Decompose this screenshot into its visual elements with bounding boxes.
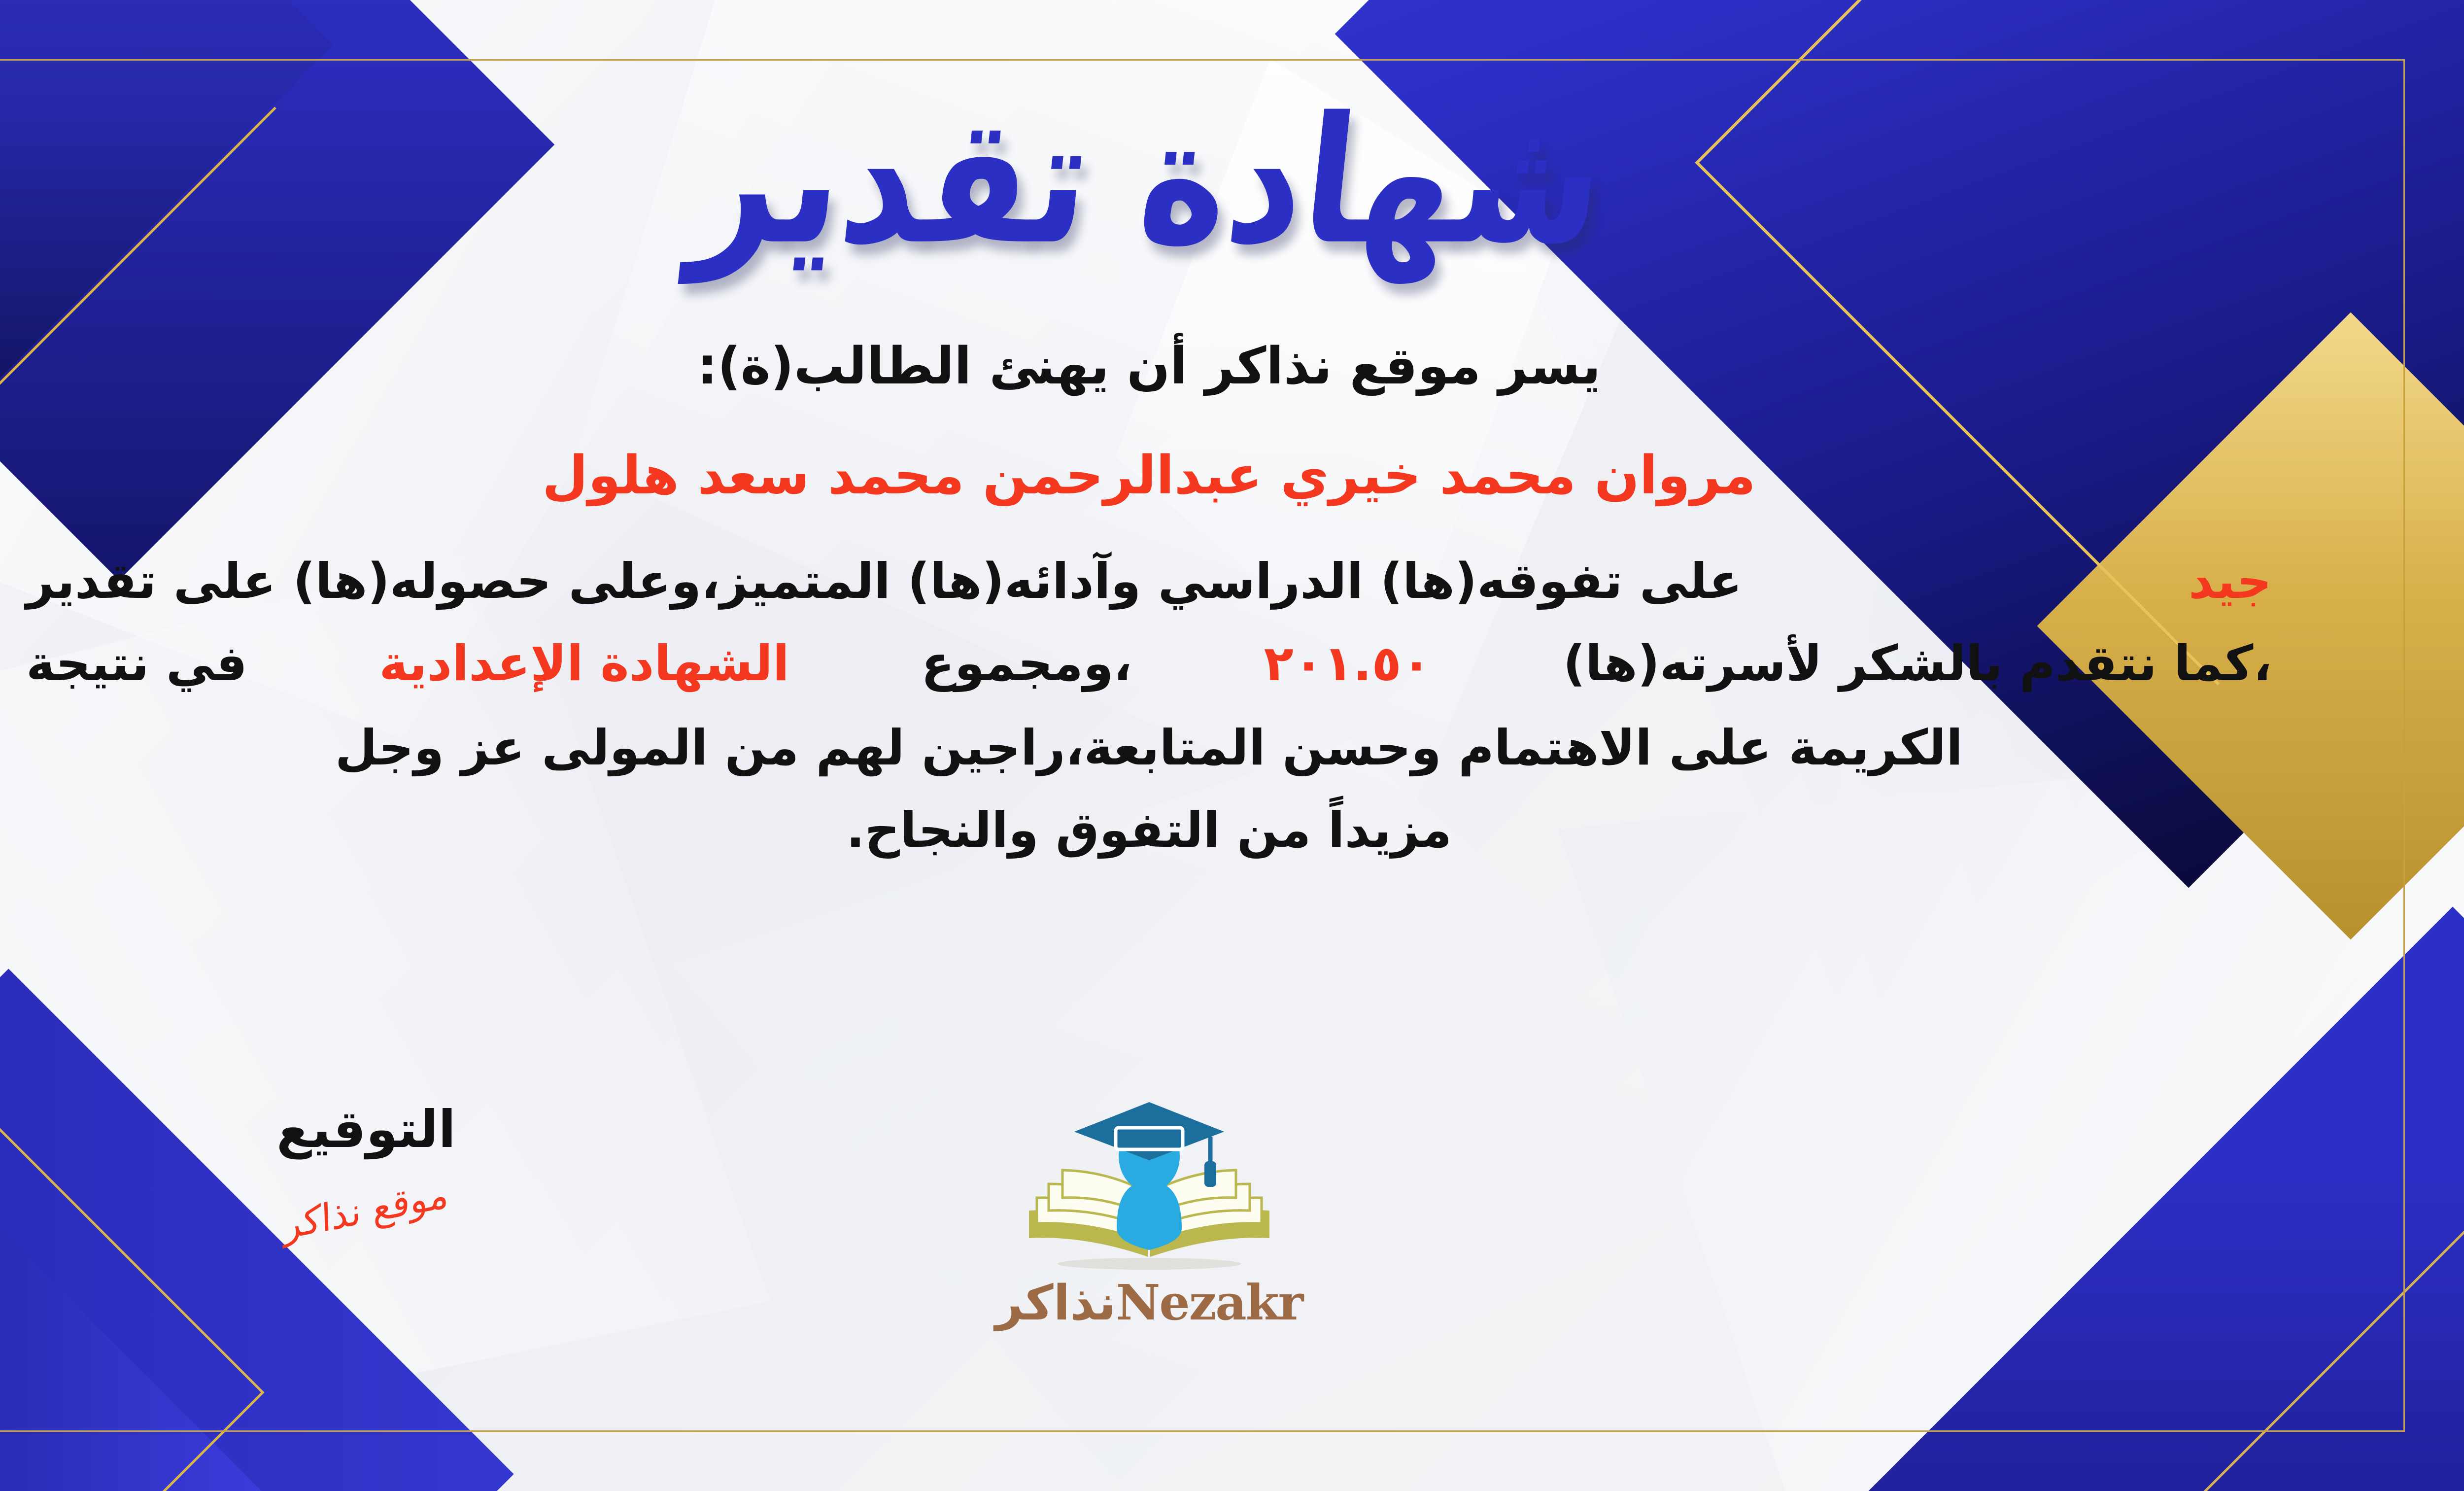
family-thanks-line: الكريمة على الاهتمام وحسن المتابعة،راجين…: [11, 710, 2287, 786]
certificate-title: شهادة تقدير: [685, 90, 1612, 273]
result-line: ،كما نتقدم بالشكر لأسرته(ها) ٢٠١.٥٠ ،ومج…: [11, 624, 2287, 703]
total-label: ،ومجموع: [921, 624, 1132, 703]
congratulation-lead: يسر موقع نذاكر أن يهنئ الطالب(ة):: [11, 325, 2287, 408]
signature-block: التوقيع موقع نذاكر: [179, 1099, 553, 1232]
logo-arabic: نذاكر: [995, 1275, 1116, 1331]
achievement-line: جيد على تفوقه(ها) الدراسي وآدائه(ها) الم…: [11, 542, 2287, 621]
student-name: مروان محمد خيري عبدالرحمن محمد سعد هلول: [11, 433, 2287, 519]
achievement-text: على تفوقه(ها) الدراسي وآدائه(ها) المتميز…: [26, 542, 1742, 621]
certificate-name: الشهادة الإعدادية: [379, 624, 789, 703]
grade-value: جيد: [2189, 542, 2272, 621]
thanks-text: ،كما نتقدم بالشكر لأسرته(ها): [1563, 624, 2272, 703]
certificate-body: يسر موقع نذاكر أن يهنئ الطالب(ة): مروان …: [11, 325, 2287, 868]
total-score: ٢٠١.٥٠: [1264, 624, 1432, 703]
site-logo-text: Nezakrنذاكر: [927, 1275, 1371, 1331]
closing-wish-line: مزيداً من التفوق والنجاح.: [11, 793, 2287, 868]
certificate-footer: التوقيع موقع نذاكر: [0, 1099, 2464, 1385]
logo-latin: Nezakr: [1116, 1275, 1303, 1331]
graduate-book-logo-icon: [1011, 1094, 1287, 1282]
signature-label: التوقيع: [179, 1099, 553, 1159]
certificate-page: شهادة تقدير يسر موقع نذاكر أن يهنئ الطال…: [0, 0, 2464, 1491]
result-prefix: في نتيجة: [26, 624, 247, 703]
site-logo-block: Nezakrنذاكر: [927, 1094, 1371, 1331]
signature-script: موقع نذاكر: [283, 1172, 449, 1248]
